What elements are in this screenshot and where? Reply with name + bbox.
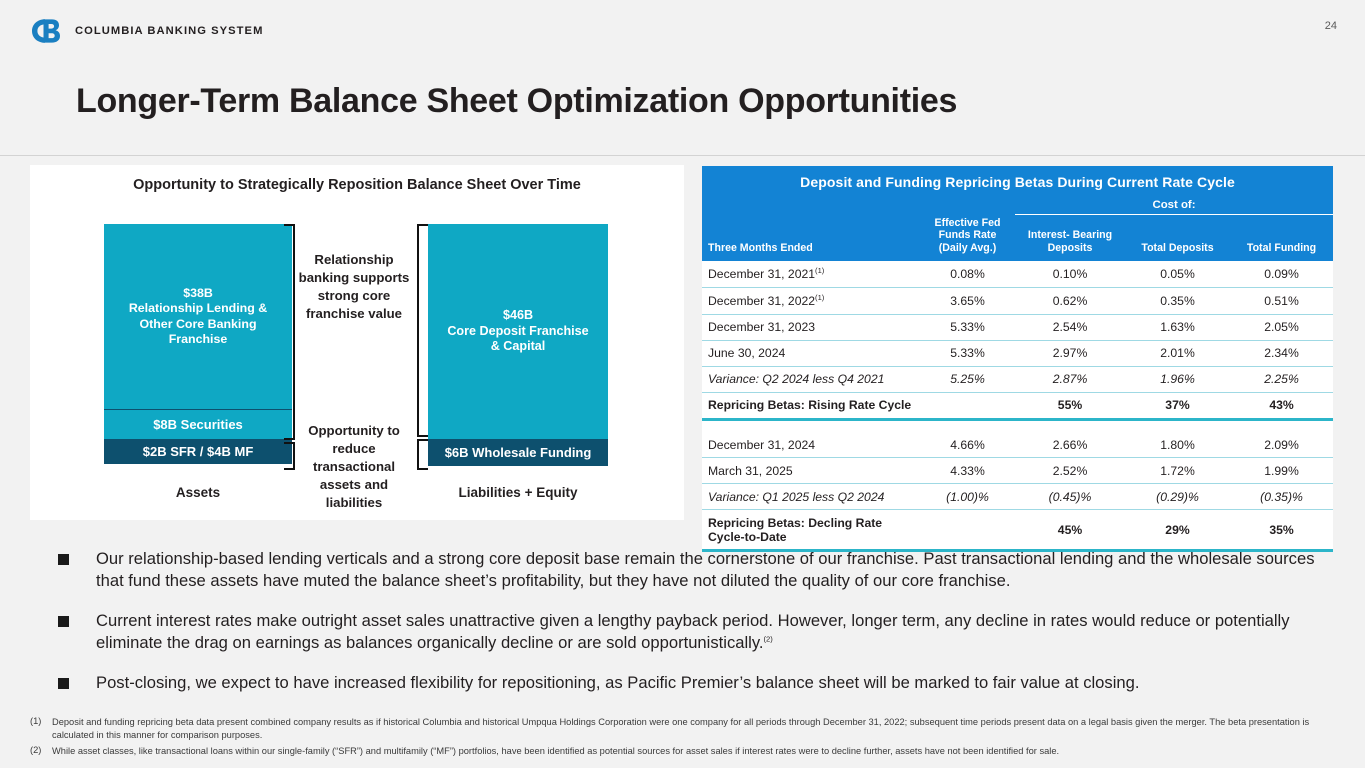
- cell-interest-bearing-deposits: 2.66%: [1015, 432, 1125, 458]
- column-header-interest-bearing-deposits: Interest- Bearing Deposits: [1015, 215, 1125, 261]
- table-row: December 31, 2021(1)0.08%0.10%0.05%0.09%: [702, 261, 1333, 288]
- list-item: Our relationship-based lending verticals…: [58, 548, 1340, 593]
- cell-interest-bearing-deposits: 2.87%: [1015, 366, 1125, 392]
- liab-core-desc-1: Core Deposit Franchise: [447, 324, 588, 339]
- cell-fed-funds: 5.25%: [920, 366, 1015, 392]
- cell-fed-funds: [920, 392, 1015, 419]
- table-row: December 31, 20235.33%2.54%1.63%2.05%: [702, 314, 1333, 340]
- cell-total-funding: (0.35)%: [1230, 484, 1333, 510]
- table-row: Variance: Q1 2025 less Q2 2024(1.00)%(0.…: [702, 484, 1333, 510]
- title-divider: [0, 155, 1365, 156]
- footnote-ref: (1): [815, 293, 824, 302]
- cell-fed-funds: 4.66%: [920, 432, 1015, 458]
- assets-core-desc-2: Other Core Banking: [129, 317, 267, 332]
- footnote-marker: (1): [30, 716, 52, 742]
- bullet-text: Post-closing, we expect to have increase…: [96, 672, 1139, 694]
- row-label: Variance: Q1 2025 less Q2 2024: [702, 484, 920, 510]
- liab-core-bracket: [417, 224, 428, 437]
- cell-total-deposits: 29%: [1125, 510, 1230, 551]
- cell-total-funding: 2.25%: [1230, 366, 1333, 392]
- assets-core-desc-1: Relationship Lending &: [129, 301, 267, 316]
- cell-total-funding: 2.09%: [1230, 432, 1333, 458]
- brand-name: COLUMBIA BANKING SYSTEM: [75, 25, 263, 37]
- cell-total-deposits: 1.72%: [1125, 458, 1230, 484]
- ibd-hdr-l2: Deposits: [1018, 242, 1122, 255]
- cell-interest-bearing-deposits: 0.62%: [1015, 287, 1125, 314]
- fed-hdr-l2: Funds Rate: [923, 229, 1012, 242]
- cell-interest-bearing-deposits: 2.54%: [1015, 314, 1125, 340]
- bullet-text: Our relationship-based lending verticals…: [96, 548, 1340, 593]
- cell-fed-funds: [920, 510, 1015, 551]
- assets-core-bracket: [284, 224, 295, 440]
- cell-fed-funds: 0.08%: [920, 261, 1015, 288]
- cell-total-deposits: 1.63%: [1125, 314, 1230, 340]
- cb-monogram-icon: [28, 16, 64, 46]
- cell-fed-funds: (1.00)%: [920, 484, 1015, 510]
- column-group-cost-of: Cost of:: [1015, 199, 1333, 215]
- fed-hdr-l1: Effective Fed: [923, 217, 1012, 230]
- bullet-square-icon: [58, 678, 69, 689]
- assets-core-desc-3: Franchise: [129, 332, 267, 347]
- cell-interest-bearing-deposits: 0.10%: [1015, 261, 1125, 288]
- footnote-text: Deposit and funding repricing beta data …: [52, 716, 1330, 742]
- cell-fed-funds: 5.33%: [920, 314, 1015, 340]
- cell-interest-bearing-deposits: 2.97%: [1015, 340, 1125, 366]
- row-label: December 31, 2023: [702, 314, 920, 340]
- footnote-ref: (1): [815, 266, 824, 275]
- cell-total-deposits: 2.01%: [1125, 340, 1230, 366]
- liab-core-amount: $46B: [447, 308, 588, 323]
- liab-segment-wholesale-funding: $6B Wholesale Funding: [428, 439, 608, 466]
- cell-fed-funds: 3.65%: [920, 287, 1015, 314]
- cell-total-deposits: 0.05%: [1125, 261, 1230, 288]
- cell-total-deposits: (0.29)%: [1125, 484, 1230, 510]
- bullet-square-icon: [58, 554, 69, 565]
- header-spacer-2: [920, 199, 1015, 215]
- table-body: December 31, 2021(1)0.08%0.10%0.05%0.09%…: [702, 261, 1333, 551]
- cell-total-deposits: 1.80%: [1125, 432, 1230, 458]
- bullet-text: Current interest rates make outright ass…: [96, 610, 1340, 655]
- assets-core-amount: $38B: [129, 286, 267, 301]
- cell-fed-funds: 5.33%: [920, 340, 1015, 366]
- table-row: Repricing Betas: Rising Rate Cycle55%37%…: [702, 392, 1333, 419]
- bullet-square-icon: [58, 616, 69, 627]
- table-title: Deposit and Funding Repricing Betas Duri…: [702, 166, 1333, 199]
- cell-total-funding: 0.09%: [1230, 261, 1333, 288]
- cell-interest-bearing-deposits: (0.45)%: [1015, 484, 1125, 510]
- brand-logo: COLUMBIA BANKING SYSTEM: [28, 16, 263, 46]
- cell-total-deposits: 37%: [1125, 392, 1230, 419]
- table-row: March 31, 20254.33%2.52%1.72%1.99%: [702, 458, 1333, 484]
- mid-note-relationship: Relationship banking supports strong cor…: [295, 251, 413, 323]
- liab-core-desc-2: & Capital: [447, 339, 588, 354]
- mid-note-opportunity: Opportunity to reduce transactional asse…: [295, 422, 413, 512]
- row-label: Repricing Betas: Rising Rate Cycle: [702, 392, 920, 419]
- footnote-2: (2) While asset classes, like transactio…: [30, 745, 1330, 758]
- table-row: Variance: Q2 2024 less Q4 20215.25%2.87%…: [702, 366, 1333, 392]
- cell-total-deposits: 0.35%: [1125, 287, 1230, 314]
- table-row: December 31, 2022(1)3.65%0.62%0.35%0.51%: [702, 287, 1333, 314]
- row-label: Variance: Q2 2024 less Q4 2021: [702, 366, 920, 392]
- footnote-text: While asset classes, like transactional …: [52, 745, 1059, 758]
- list-item: Post-closing, we expect to have increase…: [58, 672, 1340, 694]
- gap-cell: [702, 419, 1333, 432]
- assets-bar: $38B Relationship Lending & Other Core B…: [104, 224, 292, 464]
- slide-root: COLUMBIA BANKING SYSTEM 24 Longer-Term B…: [0, 0, 1365, 768]
- row-label: Repricing Betas: Decling Rate Cycle-to-D…: [702, 510, 920, 551]
- cell-fed-funds: 4.33%: [920, 458, 1015, 484]
- list-item: Current interest rates make outright ass…: [58, 610, 1340, 655]
- bullet-list: Our relationship-based lending verticals…: [58, 548, 1340, 711]
- row-label: December 31, 2021(1): [702, 261, 920, 288]
- cell-total-funding: 35%: [1230, 510, 1333, 551]
- assets-segment-securities: $8B Securities: [104, 409, 292, 439]
- cell-total-deposits: 1.96%: [1125, 366, 1230, 392]
- liabilities-bar: $46B Core Deposit Franchise & Capital $6…: [428, 224, 608, 466]
- bullet-text-body: Current interest rates make outright ass…: [96, 611, 1290, 652]
- bullet-footnote-ref: (2): [764, 635, 773, 644]
- cell-interest-bearing-deposits: 2.52%: [1015, 458, 1125, 484]
- column-header-total-funding: Total Funding: [1230, 215, 1333, 261]
- row-label: March 31, 2025: [702, 458, 920, 484]
- row-label: June 30, 2024: [702, 340, 920, 366]
- row-label: December 31, 2024: [702, 432, 920, 458]
- assets-transactional-bracket: [284, 442, 295, 470]
- footnote-marker: (2): [30, 745, 52, 758]
- page-title: Longer-Term Balance Sheet Optimization O…: [76, 82, 957, 121]
- row-label: December 31, 2022(1): [702, 287, 920, 314]
- ibd-hdr-l1: Interest- Bearing: [1018, 229, 1122, 242]
- column-header-fed-funds: Effective Fed Funds Rate (Daily Avg.): [920, 215, 1015, 261]
- footnote-1: (1) Deposit and funding repricing beta d…: [30, 716, 1330, 742]
- header-spacer: [702, 199, 920, 215]
- assets-segment-sfr-mf: $2B SFR / $4B MF: [104, 439, 292, 464]
- cell-total-funding: 0.51%: [1230, 287, 1333, 314]
- cell-total-funding: 1.99%: [1230, 458, 1333, 484]
- repricing-betas-table: Deposit and Funding Repricing Betas Duri…: [702, 166, 1333, 552]
- liab-segment-core-deposits: $46B Core Deposit Franchise & Capital: [428, 224, 608, 439]
- cell-interest-bearing-deposits: 45%: [1015, 510, 1125, 551]
- cell-total-funding: 43%: [1230, 392, 1333, 419]
- liab-wholesale-bracket: [417, 439, 428, 470]
- liabilities-axis-label: Liabilities + Equity: [428, 485, 608, 500]
- table-gap-row: [702, 419, 1333, 432]
- assets-axis-label: Assets: [104, 485, 292, 500]
- fed-hdr-l3: (Daily Avg.): [923, 242, 1012, 255]
- table-row: June 30, 20245.33%2.97%2.01%2.34%: [702, 340, 1333, 366]
- column-header-total-deposits: Total Deposits: [1125, 215, 1230, 261]
- column-header-period: Three Months Ended: [702, 215, 920, 261]
- cell-interest-bearing-deposits: 55%: [1015, 392, 1125, 419]
- table-row: December 31, 20244.66%2.66%1.80%2.09%: [702, 432, 1333, 458]
- page-number: 24: [1325, 20, 1337, 32]
- diagram-title: Opportunity to Strategically Reposition …: [30, 177, 684, 193]
- table-row: Repricing Betas: Decling Rate Cycle-to-D…: [702, 510, 1333, 551]
- assets-segment-core: $38B Relationship Lending & Other Core B…: [104, 224, 292, 409]
- cell-total-funding: 2.34%: [1230, 340, 1333, 366]
- cell-total-funding: 2.05%: [1230, 314, 1333, 340]
